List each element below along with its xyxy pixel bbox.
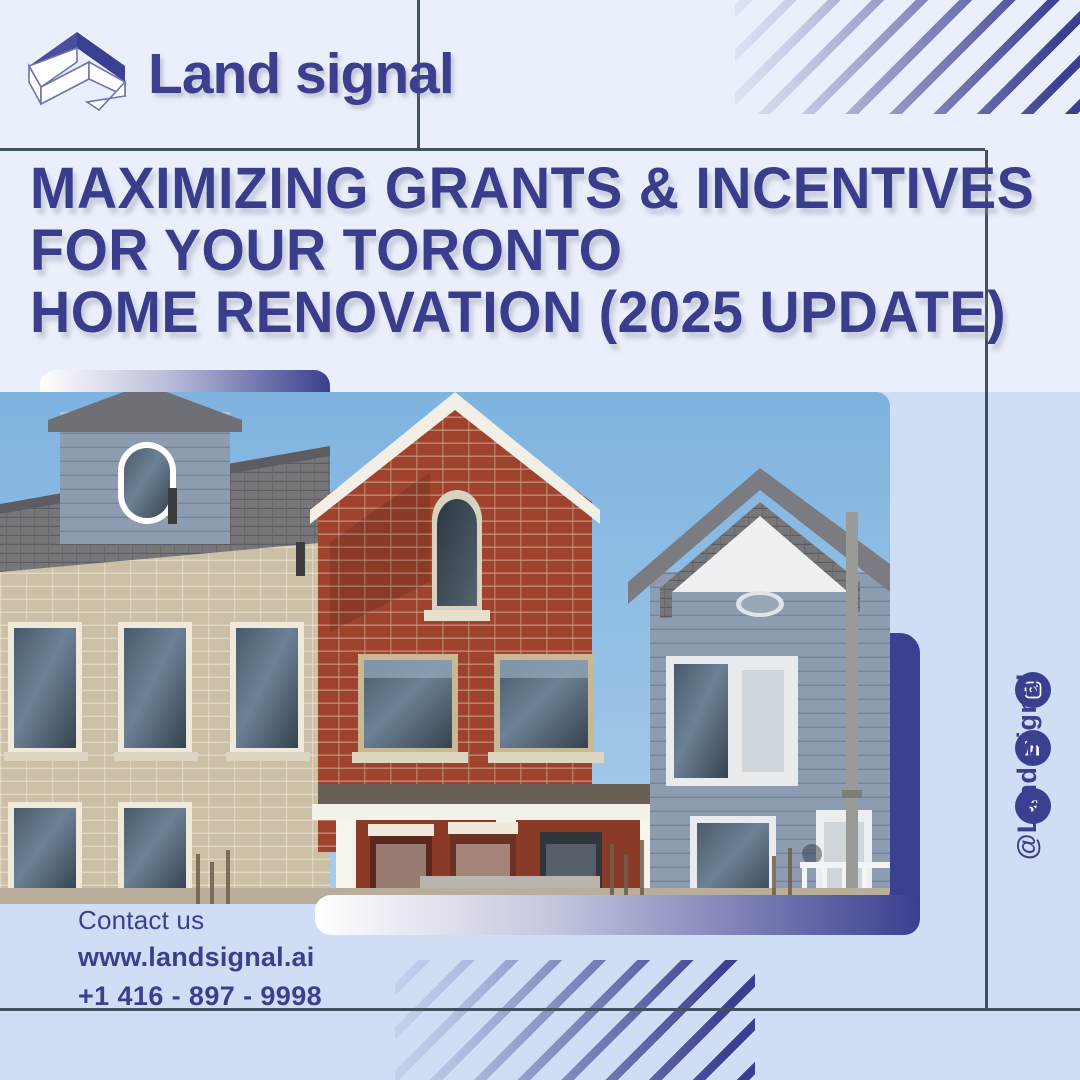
contact-phone[interactable]: +1 416 - 897 - 9998 — [78, 977, 458, 1016]
brand-logo[interactable]: Land signal — [24, 22, 414, 127]
social-handle: @Land-Signal — [1012, 673, 1043, 860]
contact-block: Contact us www.landsignal.ai +1 416 - 89… — [78, 903, 458, 1016]
page-title-line-1: MAXIMIZING GRANTS & INCENTIVES — [30, 158, 942, 220]
diagonal-stripes-top — [735, 0, 1080, 114]
divider-horizontal-top — [0, 148, 985, 151]
isometric-roof-logo-icon — [24, 29, 130, 121]
divider-vertical-right — [985, 150, 988, 1010]
hero-photo — [0, 392, 890, 904]
page-title-line-2: FOR YOUR TORONTO — [30, 220, 942, 282]
poster-canvas: Land signal MAXIMIZING GRANTS & INCENTIV… — [0, 0, 1080, 1080]
page-title-line-3: HOME RENOVATION (2025 UPDATE) — [30, 282, 942, 344]
contact-label: Contact us — [78, 903, 458, 938]
page-title: MAXIMIZING GRANTS & INCENTIVES FOR YOUR … — [30, 158, 942, 344]
contact-website[interactable]: www.landsignal.ai — [78, 938, 458, 977]
brand-name: Land signal — [148, 46, 454, 103]
